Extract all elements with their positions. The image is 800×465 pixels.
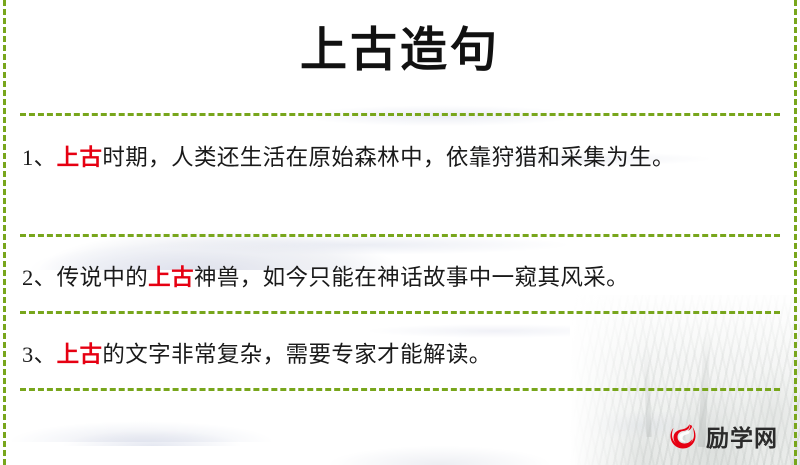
red-swirl-bird-icon xyxy=(667,420,699,452)
separator-1 xyxy=(20,113,780,116)
sentence-item-1: 1、上古时期，人类还生活在原始森林中，依靠狩猎和采集为生。 xyxy=(22,138,778,178)
sentence-item-3: 3、上古的文字非常复杂，需要专家才能解读。 xyxy=(22,335,778,375)
sentence-examples-card: 上古造句 1、上古时期，人类还生活在原始森林中，依靠狩猎和采集为生。 2、传说中… xyxy=(0,0,800,465)
sentence-1-index: 1、 xyxy=(22,145,57,170)
separator-4 xyxy=(20,388,780,391)
ink-wash-mountain-bottom-left-2 xyxy=(60,398,290,446)
sentence-2-index: 2、 xyxy=(22,265,57,290)
sentence-3-after: 的文字非常复杂，需要专家才能解读。 xyxy=(102,342,491,367)
ink-wash-mountain-bottom-left xyxy=(0,382,290,442)
site-logo-text: 励学网 xyxy=(706,419,778,453)
site-logo[interactable]: 励学网 xyxy=(667,419,778,453)
sentence-1-keyword: 上古 xyxy=(57,145,103,170)
sentence-3-index: 3、 xyxy=(22,342,57,367)
sentence-1-after: 时期，人类还生活在原始森林中，依靠狩猎和采集为生。 xyxy=(102,145,675,170)
separator-2 xyxy=(20,234,780,237)
sentence-3-keyword: 上古 xyxy=(57,342,103,367)
page-title: 上古造句 xyxy=(0,22,800,81)
sentence-item-2: 2、传说中的上古神兽，如今只能在神话故事中一窥其风采。 xyxy=(22,258,778,298)
separator-3 xyxy=(20,311,780,314)
sentence-2-keyword: 上古 xyxy=(148,265,194,290)
sentence-2-after: 神兽，如今只能在神话故事中一窥其风采。 xyxy=(194,265,629,290)
ink-wash-mountain-bottom-center xyxy=(300,405,580,465)
sentence-2-before: 传说中的 xyxy=(57,265,149,290)
